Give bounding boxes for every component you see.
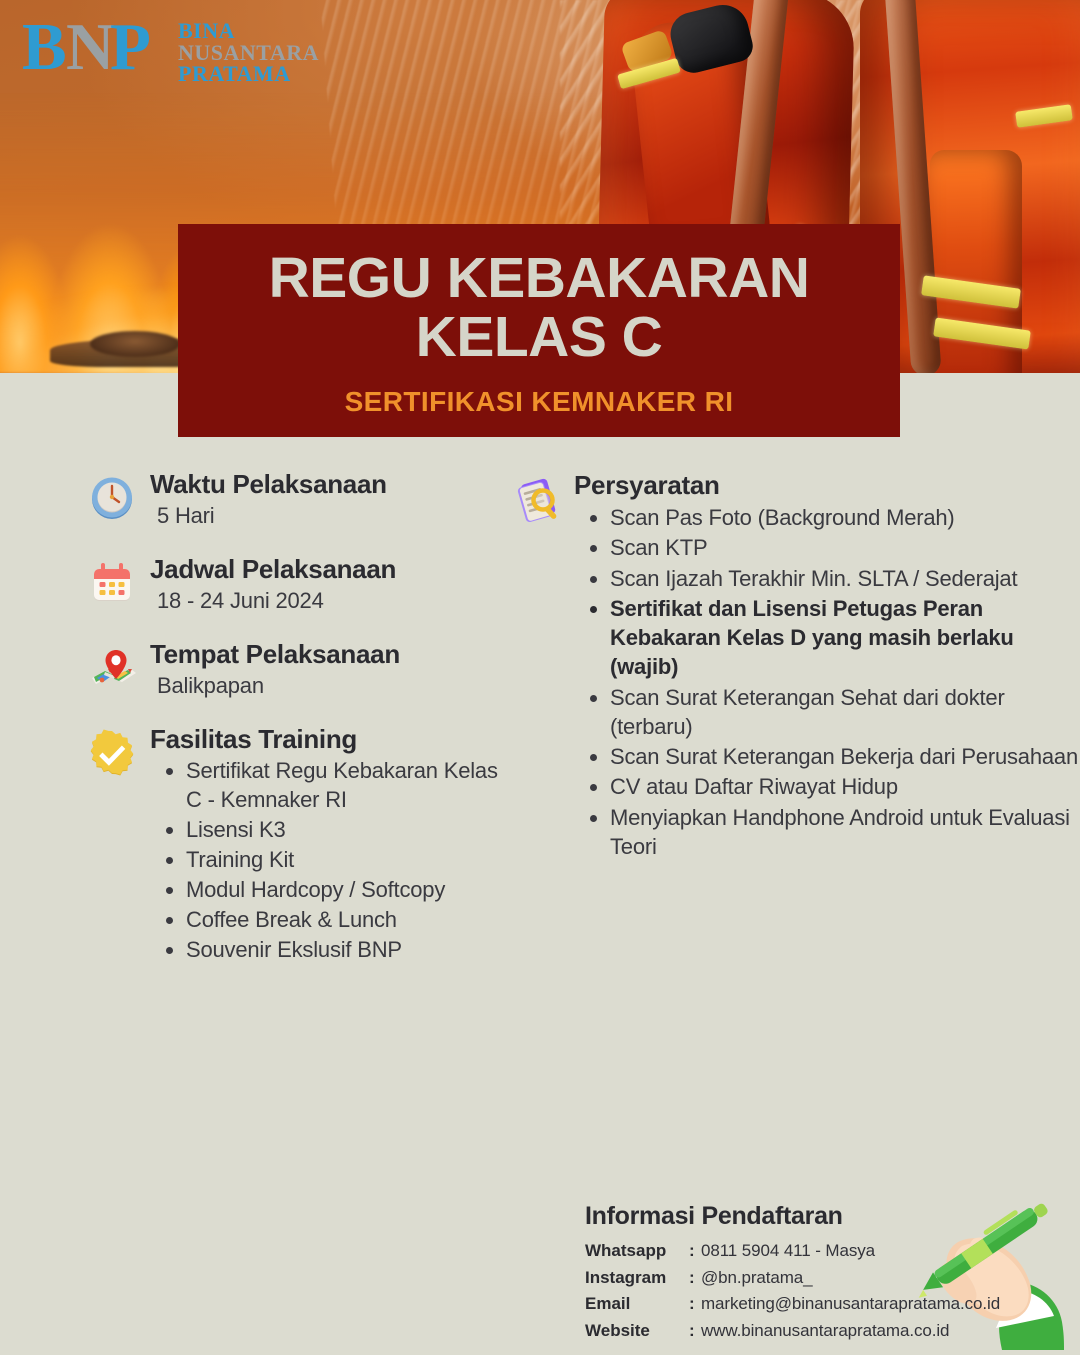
contact-row: Whatsapp:0811 5904 411 - Masya [585, 1238, 1080, 1265]
logo-word-pratama: PRATAMA [178, 63, 319, 85]
contact-colon: : [689, 1318, 701, 1345]
contact-label: Email [585, 1291, 689, 1318]
calendar-icon [88, 555, 150, 614]
check-badge-icon [88, 725, 150, 965]
contact-colon: : [689, 1291, 701, 1318]
contact-label: Whatsapp [585, 1238, 689, 1265]
jadwal-value: 18 - 24 Juni 2024 [150, 588, 500, 614]
list-item: Modul Hardcopy / Softcopy [186, 875, 500, 904]
list-item: CV atau Daftar Riwayat Hidup [610, 772, 1080, 801]
persyaratan-heading: Persyaratan [574, 470, 1080, 501]
fasilitas-list: Sertifikat Regu Kebakaran Kelas C - Kemn… [150, 756, 500, 964]
list-item: Training Kit [186, 845, 500, 874]
fasilitas-body: Fasilitas Training Sertifikat Regu Kebak… [150, 725, 500, 965]
logo-letter-p: P [110, 16, 149, 80]
list-item: Menyiapkan Handphone Android untuk Evalu… [610, 803, 1080, 862]
logo-letter-n: N [66, 16, 112, 80]
waktu-body: Waktu Pelaksanaan 5 Hari [150, 470, 500, 529]
map-pin-icon [88, 640, 150, 699]
logo-word-bina: BINA [178, 20, 319, 42]
list-item: Scan Surat Keterangan Sehat dari dokter … [610, 683, 1080, 742]
burning-log-2 [90, 331, 180, 357]
tempat-body: Tempat Pelaksanaan Balikpapan [150, 640, 500, 699]
jadwal-pelaksanaan-block: Jadwal Pelaksanaan 18 - 24 Juni 2024 [88, 555, 500, 614]
contact-value[interactable]: 0811 5904 411 - Masya [701, 1238, 875, 1265]
persyaratan-list: Scan Pas Foto (Background Merah)Scan KTP… [574, 503, 1080, 861]
list-item: Scan Ijazah Terakhir Min. SLTA / Sederaj… [610, 564, 1080, 593]
contact-value[interactable]: @bn.pratama_ [701, 1265, 813, 1292]
contact-colon: : [689, 1238, 701, 1265]
waktu-value: 5 Hari [150, 503, 500, 529]
document-search-icon [512, 470, 574, 862]
right-column: Persyaratan Scan Pas Foto (Background Me… [500, 470, 1080, 991]
logo-word-nusantara: NUSANTARA [178, 42, 319, 64]
logo-monogram: B N P [22, 16, 174, 88]
fasilitas-heading: Fasilitas Training [150, 725, 500, 755]
logo-wordmark: BINA NUSANTARA PRATAMA [178, 20, 319, 85]
contact-value[interactable]: www.binanusantarapratama.co.id [701, 1318, 949, 1345]
clock-icon [88, 470, 150, 529]
contact-label: Instagram [585, 1265, 689, 1292]
list-item: Scan Surat Keterangan Bekerja dari Perus… [610, 742, 1080, 771]
waktu-heading: Waktu Pelaksanaan [150, 470, 500, 500]
footer-title: Informasi Pendaftaran [585, 1202, 1080, 1231]
left-column: Waktu Pelaksanaan 5 Hari [0, 470, 500, 991]
contact-value[interactable]: marketing@binanusantarapratama.co.id [701, 1291, 1000, 1318]
list-item: Coffee Break & Lunch [186, 905, 500, 934]
logo-letter-b: B [22, 16, 65, 80]
tempat-value: Balikpapan [150, 673, 500, 699]
content-area: Waktu Pelaksanaan 5 Hari [0, 470, 1080, 991]
jadwal-body: Jadwal Pelaksanaan 18 - 24 Juni 2024 [150, 555, 500, 614]
contact-label: Website [585, 1318, 689, 1345]
tempat-pelaksanaan-block: Tempat Pelaksanaan Balikpapan [88, 640, 500, 699]
list-item: Sertifikat dan Lisensi Petugas Peran Keb… [610, 594, 1080, 682]
title-banner: REGU KEBAKARAN KELAS C SERTIFIKASI KEMNA… [178, 224, 900, 437]
contact-colon: : [689, 1265, 701, 1292]
registration-info: Informasi Pendaftaran Whatsapp:0811 5904… [585, 1202, 1080, 1344]
jadwal-heading: Jadwal Pelaksanaan [150, 555, 500, 585]
persyaratan-block: Persyaratan Scan Pas Foto (Background Me… [512, 470, 1080, 862]
list-item: Lisensi K3 [186, 815, 500, 844]
contact-row: Instagram:@bn.pratama_ [585, 1265, 1080, 1292]
list-item: Sertifikat Regu Kebakaran Kelas C - Kemn… [186, 756, 500, 814]
banner-title-line-2: KELAS C [416, 308, 663, 367]
list-item: Souvenir Ekslusif BNP [186, 935, 500, 964]
contact-row: Website:www.binanusantarapratama.co.id [585, 1318, 1080, 1345]
waktu-pelaksanaan-block: Waktu Pelaksanaan 5 Hari [88, 470, 500, 529]
contact-row: Email:marketing@binanusantarapratama.co.… [585, 1291, 1080, 1318]
bnp-logo: B N P BINA NUSANTARA PRATAMA [22, 16, 319, 88]
tempat-heading: Tempat Pelaksanaan [150, 640, 500, 670]
persyaratan-body: Persyaratan Scan Pas Foto (Background Me… [574, 470, 1080, 862]
banner-subtitle: SERTIFIKASI KEMNAKER RI [345, 386, 734, 418]
footer-rows: Whatsapp:0811 5904 411 - MasyaInstagram:… [585, 1238, 1080, 1344]
list-item: Scan KTP [610, 533, 1080, 562]
fasilitas-training-block: Fasilitas Training Sertifikat Regu Kebak… [88, 725, 500, 965]
banner-title-line-1: REGU KEBAKARAN [269, 249, 810, 308]
list-item: Scan Pas Foto (Background Merah) [610, 503, 1080, 532]
